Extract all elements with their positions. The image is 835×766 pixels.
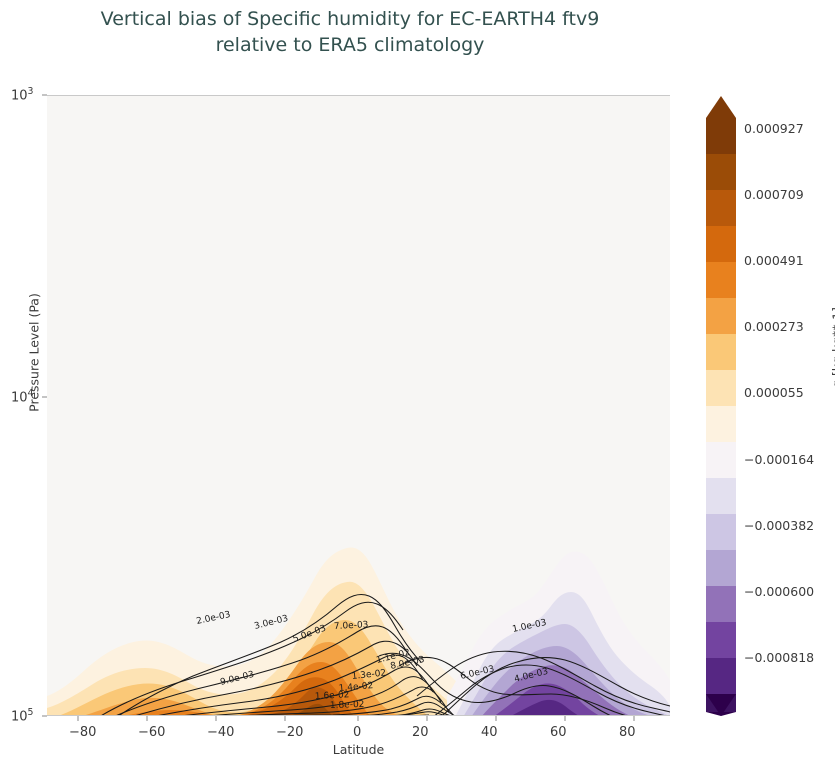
contour-field: 2.0e-03 3.0e-03 5.0e-03 7.0e-03 9.0e-03 … (47, 96, 670, 716)
x-axis-label: Latitude (47, 742, 670, 757)
colorbar-tick-label: 0.000491 (744, 253, 804, 268)
xtick-label: 20 (412, 725, 429, 740)
xtick-label: 0 (353, 725, 361, 740)
contour-label-7.0e-03: 7.0e-03 (334, 620, 369, 632)
plot-area: 2.0e-03 3.0e-03 5.0e-03 7.0e-03 9.0e-03 … (47, 95, 670, 716)
xtick-label: 40 (481, 725, 498, 740)
colorbar-tick-label: 0.000273 (744, 319, 804, 334)
figure-canvas: Vertical bias of Specific humidity for E… (0, 0, 835, 766)
colorbar-bands (706, 118, 736, 712)
ytick-label: 103 (11, 86, 34, 103)
colorbar-tick-label: 0.000055 (744, 385, 804, 400)
xtick-label: 60 (550, 725, 567, 740)
xtick-label: −60 (138, 725, 165, 740)
colorbar-tick-label: −0.000818 (744, 650, 814, 665)
colorbar-axis-label: q [kg kg**-1] (830, 268, 835, 428)
xtick-label: −80 (69, 725, 96, 740)
colorbar-tick-label: −0.000164 (744, 452, 814, 467)
colorbar (700, 90, 748, 722)
colorbar-tick-label: 0.000927 (744, 121, 804, 136)
xtick-label: 80 (619, 725, 636, 740)
colorbar-extend-max (706, 96, 736, 118)
contour-label-1.8e-02: 1.8e-02 (330, 700, 365, 711)
colorbar-tick-label: −0.000382 (744, 518, 814, 533)
contour-label-2.0e-03: 2.0e-03 (196, 610, 232, 627)
y-axis-label: Pressure Level (Pa) (27, 283, 42, 423)
chart-title: Vertical bias of Specific humidity for E… (0, 6, 700, 58)
xtick-label: −20 (276, 725, 303, 740)
ytick-label: 105 (11, 707, 34, 724)
xtick-label: −40 (207, 725, 234, 740)
contour-1.6e-02 (339, 715, 429, 716)
colorbar-tick-label: −0.000600 (744, 584, 814, 599)
colorbar-tick-label: 0.000709 (744, 187, 804, 202)
